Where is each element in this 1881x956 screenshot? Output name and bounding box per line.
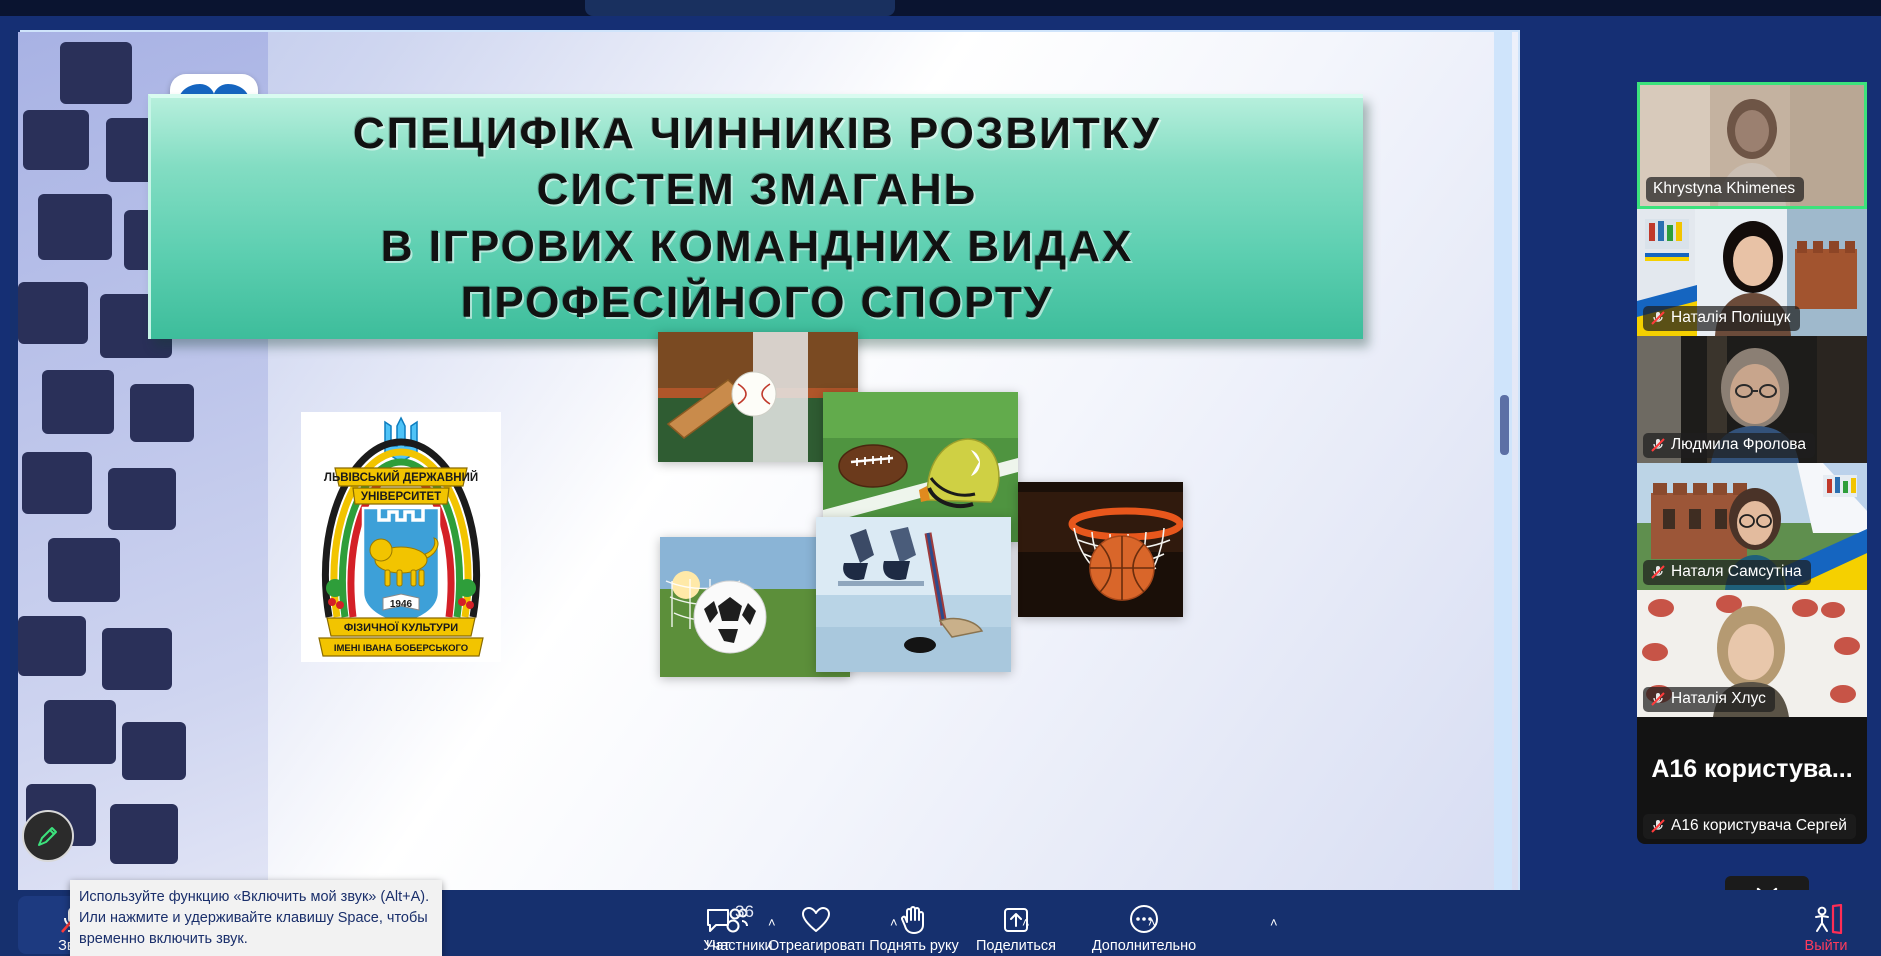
- share-arrow-up-icon: [968, 900, 1064, 934]
- participant-tile[interactable]: A16 користува... A16 користувача Сергей: [1637, 717, 1867, 844]
- slide-title-line-3: В ІГРОВИХ КОМАНДНИХ ВИДАХ: [151, 219, 1363, 275]
- zoom-meeting-window: СПЕЦИФІКА ЧИННИКІВ РОЗВИТКУ СИСТЕМ ЗМАГА…: [0, 0, 1881, 956]
- mic-muted-icon: [1650, 564, 1666, 580]
- pen-icon: [35, 823, 61, 849]
- emblem-line-4: ІМЕНІ ІВАНА БОБЕРСЬКОГО: [334, 643, 468, 654]
- window-top-strip: [0, 0, 1881, 16]
- slide-title-block: СПЕЦИФІКА ЧИННИКІВ РОЗВИТКУ СИСТЕМ ЗМАГА…: [148, 94, 1363, 339]
- chat-bubble-icon: [670, 900, 766, 934]
- exit-door-icon: [1785, 900, 1867, 934]
- raise-hand-label: Поднять руку: [866, 938, 962, 954]
- more-label: Дополнительно: [1074, 938, 1214, 954]
- sports-photo-collage: [638, 322, 1198, 682]
- university-emblem-graphic: ЛЬВІВСЬКИЙ ДЕРЖАВНИЙ УНІВЕРСИТЕТ: [301, 412, 501, 662]
- audio-tooltip-line-2: Или нажмите и удерживайте клавишу Space,…: [79, 908, 433, 929]
- emblem-line-1: ЛЬВІВСЬКИЙ ДЕРЖАВНИЙ: [324, 471, 478, 484]
- share-caret-icon[interactable]: ˄: [1270, 915, 1278, 930]
- participant-name: Наталія Поліщук: [1671, 309, 1791, 327]
- emblem-line-3: ФІЗИЧНОЇ КУЛЬТУРИ: [344, 621, 458, 634]
- participant-name: Людмила Фролова: [1671, 436, 1806, 454]
- participant-tile[interactable]: Людмила Фролова: [1637, 336, 1867, 463]
- leave-button[interactable]: Выйти: [1785, 900, 1867, 954]
- participant-name: Наталія Хлус: [1671, 690, 1766, 708]
- mic-muted-icon: [1650, 818, 1666, 834]
- participant-name-badge: Наталія Хлус: [1643, 687, 1775, 712]
- window-notch-gap: [895, 0, 905, 16]
- participant-rail: Khrystyna Khimenes: [1637, 82, 1867, 844]
- leave-label: Выйти: [1785, 938, 1867, 954]
- participant-tile[interactable]: Наталя Самсутіна: [1637, 463, 1867, 590]
- participant-name-badge: Наталя Самсутіна: [1643, 560, 1811, 585]
- emblem-line-2: УНІВЕРСИТЕТ: [361, 491, 441, 503]
- participant-name: Наталя Самсутіна: [1671, 563, 1802, 581]
- audio-tooltip-line-3: временно включить звук.: [79, 929, 433, 950]
- share-scrollbar[interactable]: [1494, 30, 1512, 890]
- participant-name: Khrystyna Khimenes: [1653, 180, 1795, 198]
- participant-name: A16 користувача Сергей: [1671, 817, 1847, 835]
- audio-tooltip-line-1: Используйте функцию «Включить мой звук» …: [79, 887, 433, 908]
- window-notch: [585, 0, 895, 16]
- participant-name-badge: A16 користувача Сергей: [1643, 814, 1856, 839]
- share-label: Поделиться: [968, 938, 1064, 954]
- mic-muted-icon: [1650, 310, 1666, 326]
- mic-muted-icon: [1650, 437, 1666, 453]
- participant-name-badge: Khrystyna Khimenes: [1646, 177, 1804, 202]
- more-button[interactable]: Дополнительно: [1074, 900, 1214, 954]
- heart-icon: [768, 900, 864, 934]
- slide-title-line-2: СИСТЕМ ЗМАГАНЬ: [151, 162, 1363, 218]
- share-button[interactable]: Поделиться: [968, 900, 1064, 954]
- chat-button[interactable]: Чат: [670, 900, 766, 954]
- ice-hockey-photo: [816, 517, 1011, 672]
- participant-name-badge: Наталія Поліщук: [1643, 306, 1800, 331]
- audio-tooltip: Используйте функцию «Включить мой звук» …: [70, 880, 442, 956]
- ellipsis-icon: [1074, 900, 1214, 934]
- raise-hand-button[interactable]: Поднять руку: [866, 900, 962, 954]
- chat-label: Чат: [670, 938, 766, 954]
- participant-tile[interactable]: Наталія Хлус: [1637, 590, 1867, 717]
- share-scrollbar-thumb[interactable]: [1500, 395, 1509, 455]
- participant-tile[interactable]: Наталія Поліщук: [1637, 209, 1867, 336]
- participant-placeholder-name: A16 користува...: [1637, 755, 1867, 784]
- hand-icon: [866, 900, 962, 934]
- participant-tile[interactable]: Khrystyna Khimenes: [1637, 82, 1867, 209]
- slide-title: СПЕЦИФІКА ЧИННИКІВ РОЗВИТКУ СИСТЕМ ЗМАГА…: [151, 106, 1363, 331]
- annotation-pen-button[interactable]: [22, 810, 74, 862]
- slide-title-line-1: СПЕЦИФІКА ЧИННИКІВ РОЗВИТКУ: [151, 106, 1363, 162]
- shared-screen-area: СПЕЦИФІКА ЧИННИКІВ РОЗВИТКУ СИСТЕМ ЗМАГА…: [10, 30, 1520, 890]
- emblem-year: 1946: [390, 599, 413, 610]
- participant-name-badge: Людмила Фролова: [1643, 433, 1815, 458]
- presentation-slide: СПЕЦИФІКА ЧИННИКІВ РОЗВИТКУ СИСТЕМ ЗМАГА…: [18, 32, 1518, 912]
- react-button[interactable]: Отреагировать: [768, 900, 864, 954]
- university-emblem: ЛЬВІВСЬКИЙ ДЕРЖАВНИЙ УНІВЕРСИТЕТ: [301, 412, 501, 662]
- basketball-hoop-photo: [1018, 482, 1183, 617]
- react-label: Отреагировать: [768, 938, 864, 954]
- mic-muted-icon: [1650, 691, 1666, 707]
